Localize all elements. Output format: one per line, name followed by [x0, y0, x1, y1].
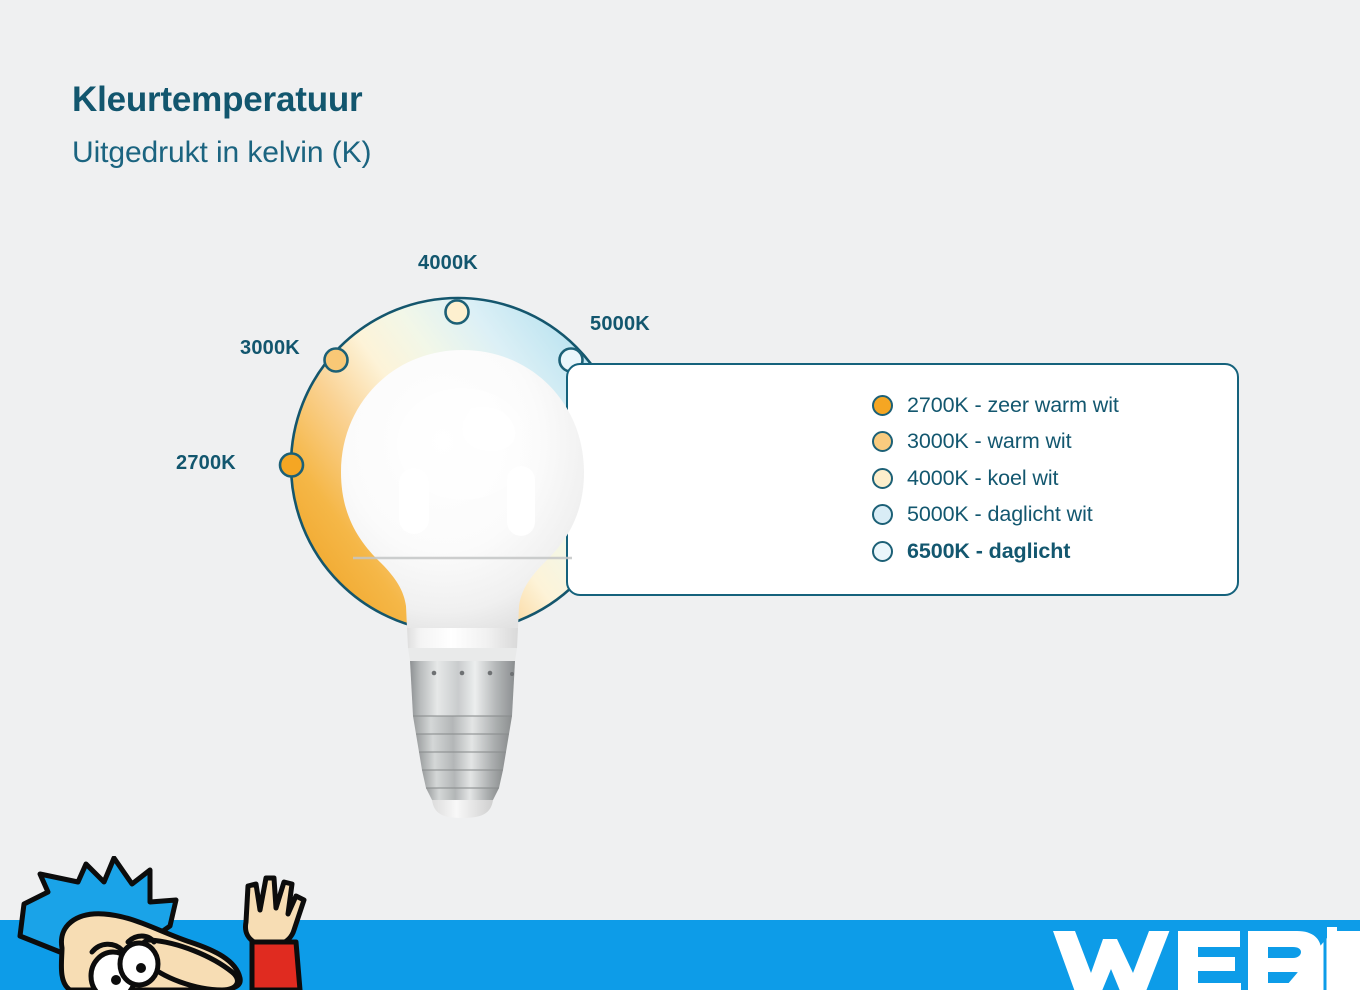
legend-dot-3000k [872, 431, 893, 452]
legend-item: 3000K - warm wit [872, 429, 1119, 455]
legend-label-4000k: 4000K - koel wit [907, 466, 1058, 491]
ring-marker-4000k [446, 301, 469, 324]
legend-label-3000k: 3000K - warm wit [907, 429, 1071, 454]
ring-label-2700k: 2700K [176, 452, 236, 475]
weba-logo [1045, 921, 1360, 990]
legend-label-5000k: 5000K - daglicht wit [907, 502, 1093, 527]
light-bulb-illustration [335, 348, 590, 818]
ring-label-4000k: 4000K [418, 252, 478, 275]
infographic-canvas: Kleurtemperatuur Uitgedrukt in kelvin (K… [0, 0, 1360, 990]
legend-dot-4000k [872, 468, 893, 489]
colour-temperature-diagram: 2700K 3000K 4000K 5000K 6500K [0, 0, 1360, 920]
legend-list: 2700K - zeer warm wit 3000K - warm wit 4… [872, 392, 1119, 564]
weba-mascot [0, 856, 350, 990]
legend-item: 4000K - koel wit [872, 465, 1119, 491]
ring-label-3000k: 3000K [240, 337, 300, 360]
ring-marker-2700k [280, 454, 303, 477]
ring-label-5000k: 5000K [590, 313, 650, 336]
legend-item: 2700K - zeer warm wit [872, 392, 1119, 418]
legend-dot-2700k [872, 395, 893, 416]
legend-item: 6500K - daglicht [872, 538, 1119, 564]
legend-dot-6500k [872, 541, 893, 562]
legend-label-6500k: 6500K - daglicht [907, 539, 1070, 564]
legend-label-2700k: 2700K - zeer warm wit [907, 393, 1119, 418]
legend-dot-5000k [872, 504, 893, 525]
legend-item: 5000K - daglicht wit [872, 502, 1119, 528]
